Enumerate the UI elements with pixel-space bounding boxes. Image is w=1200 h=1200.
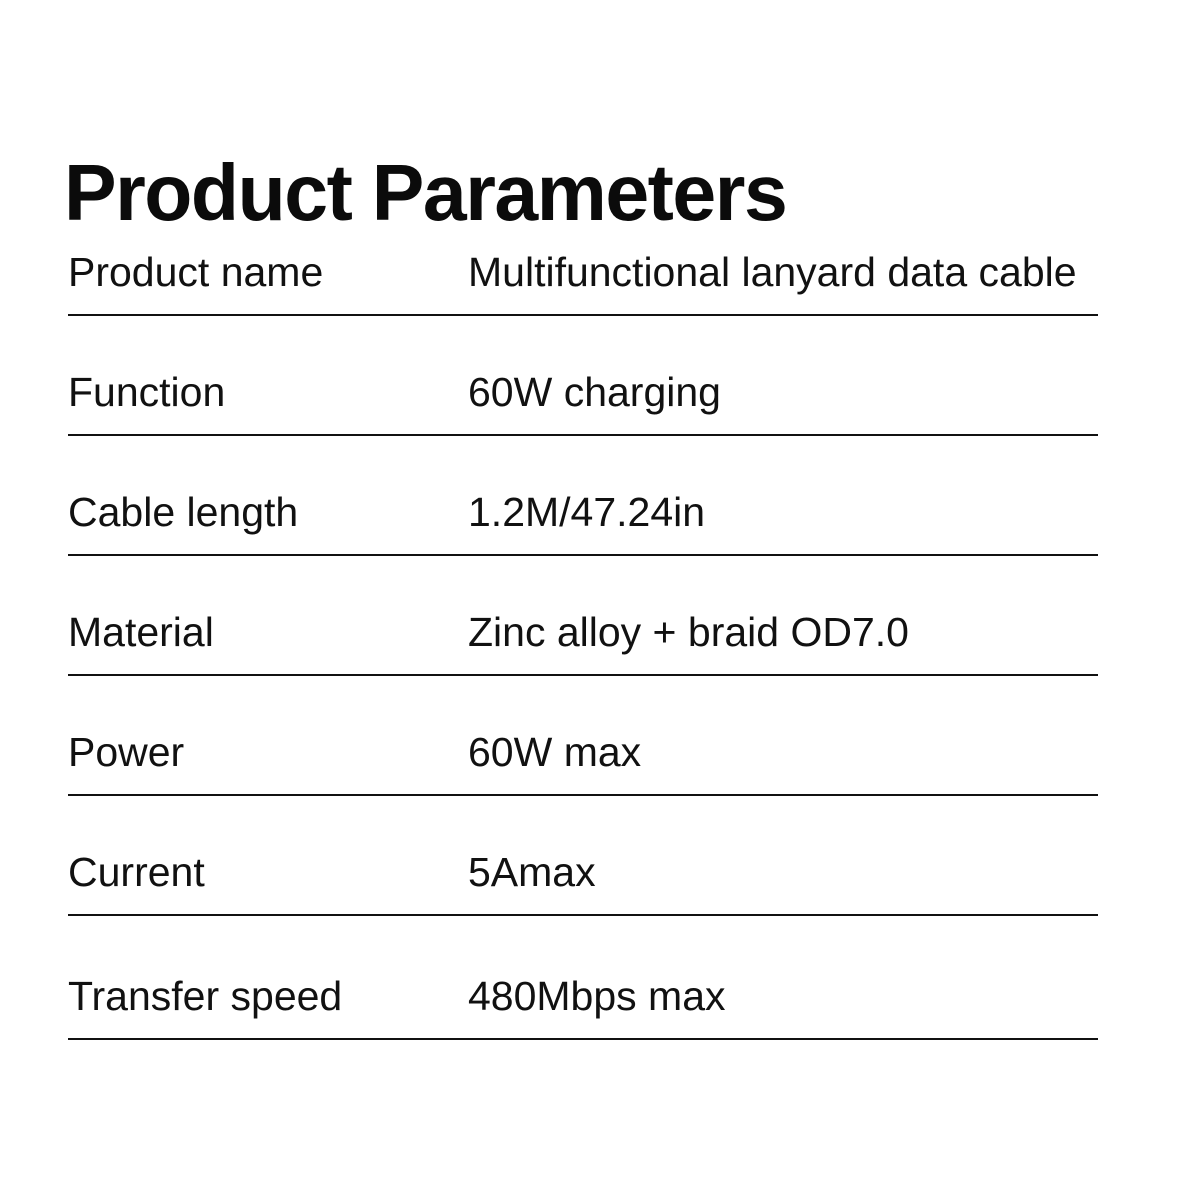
table-row: Power 60W max bbox=[68, 676, 1098, 796]
spec-label-transfer-speed: Transfer speed bbox=[68, 972, 468, 1038]
spec-value-product-name: Multifunctional lanyard data cable bbox=[468, 248, 1098, 314]
table-row: Product name Multifunctional lanyard dat… bbox=[68, 232, 1098, 316]
product-parameters-page: Product Parameters Product name Multifun… bbox=[0, 0, 1200, 1200]
spec-label-cable-length: Cable length bbox=[68, 488, 468, 554]
spec-value-current: 5Amax bbox=[468, 848, 1098, 914]
spec-label-product-name: Product name bbox=[68, 248, 468, 314]
table-row: Current 5Amax bbox=[68, 796, 1098, 916]
spec-label-material: Material bbox=[68, 608, 468, 674]
table-row: Material Zinc alloy + braid OD7.0 bbox=[68, 556, 1098, 676]
spec-value-function: 60W charging bbox=[468, 368, 1098, 434]
spec-table: Product name Multifunctional lanyard dat… bbox=[68, 232, 1098, 1040]
spec-value-transfer-speed: 480Mbps max bbox=[468, 972, 1098, 1038]
spec-value-material: Zinc alloy + braid OD7.0 bbox=[468, 608, 1098, 674]
spec-label-function: Function bbox=[68, 368, 468, 434]
table-row: Cable length 1.2M/47.24in bbox=[68, 436, 1098, 556]
table-row: Transfer speed 480Mbps max bbox=[68, 916, 1098, 1040]
spec-label-power: Power bbox=[68, 728, 468, 794]
page-title: Product Parameters bbox=[64, 149, 786, 237]
spec-label-current: Current bbox=[68, 848, 468, 914]
spec-value-power: 60W max bbox=[468, 728, 1098, 794]
table-row: Function 60W charging bbox=[68, 316, 1098, 436]
spec-value-cable-length: 1.2M/47.24in bbox=[468, 488, 1098, 554]
